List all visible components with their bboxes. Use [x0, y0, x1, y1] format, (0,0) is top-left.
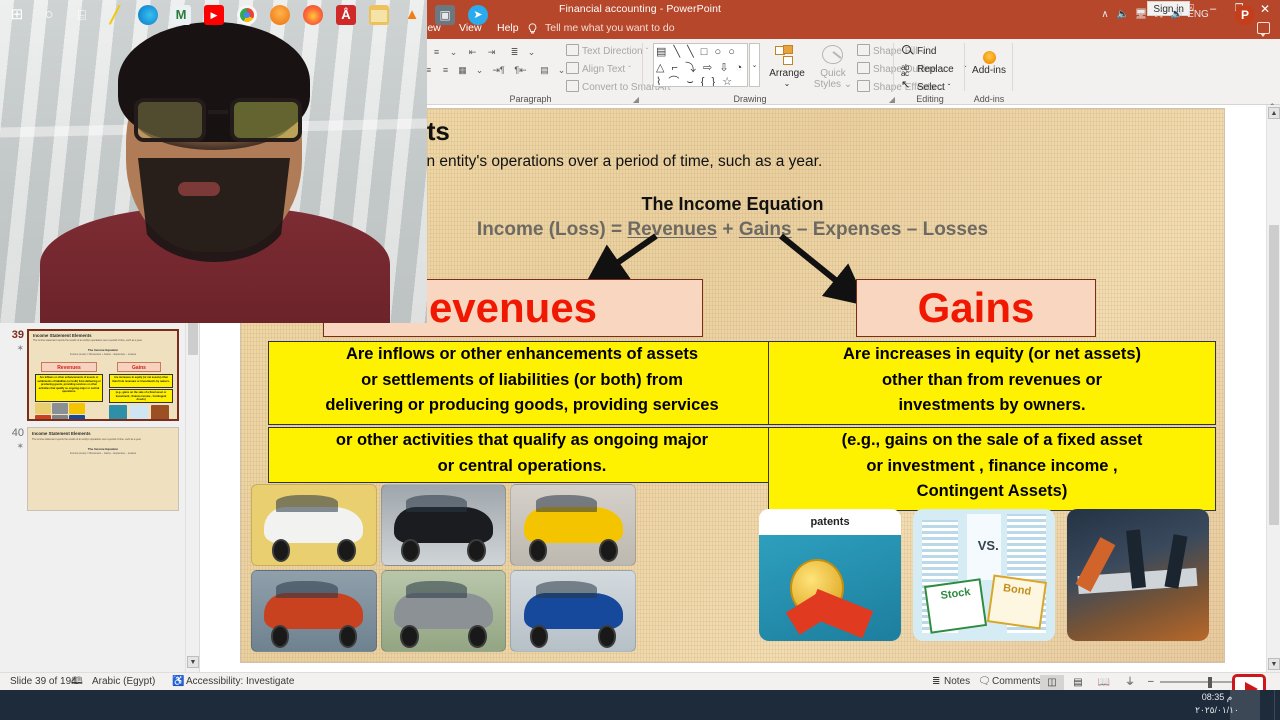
- mozilla-firefox-icon[interactable]: [303, 5, 323, 25]
- start-button[interactable]: ⊞: [7, 5, 27, 25]
- camera-icon[interactable]: ⛶: [1152, 8, 1166, 22]
- screen-recorder-icon[interactable]: ▣: [435, 5, 455, 25]
- file-explorer-icon[interactable]: [369, 5, 389, 25]
- quick-styles-button[interactable]: Quick Styles ⌄: [811, 45, 855, 90]
- arrange-button[interactable]: Arrange ⌄: [765, 45, 809, 88]
- network-icon[interactable]: 🖥: [1134, 8, 1148, 22]
- replace-icon: [901, 62, 914, 74]
- glasses-bridge: [208, 110, 228, 114]
- add-ins-button[interactable]: Add-ins: [965, 51, 1013, 76]
- ribbon-group-addins: Add-ins Add-ins: [965, 39, 1013, 105]
- thumb-gains-images: [109, 405, 169, 421]
- align-text-left-button[interactable]: ▤: [536, 63, 553, 78]
- line-spacing-button[interactable]: ≣: [506, 45, 523, 60]
- equation-suffix: – Expenses – Losses: [792, 219, 988, 240]
- close-icon[interactable]: ✕: [1252, 0, 1278, 18]
- thumb-number-39: 39: [6, 329, 24, 341]
- equation-prefix: Income (Loss) =: [477, 219, 627, 240]
- microsoft-edge-icon[interactable]: [138, 5, 158, 25]
- status-bar: Slide 39 of 194 🕮 Arabic (Egypt) ♿ Acces…: [0, 672, 1280, 690]
- chevron-down-icon[interactable]: ▼: [187, 656, 199, 668]
- clock-date: ٢٠٢٥/٠١/١٠: [1188, 704, 1246, 717]
- gains-header: Gains: [856, 279, 1096, 337]
- comments-icon[interactable]: 🗨: [978, 673, 991, 691]
- normal-view-icon[interactable]: ◫: [1040, 675, 1064, 690]
- group-label-drawing: Drawing: [645, 94, 855, 104]
- silver-mercedes-suv-image: [381, 570, 507, 652]
- zoom-slider-thumb[interactable]: [1208, 677, 1212, 688]
- increase-indent-button[interactable]: ⇥: [483, 45, 500, 60]
- search-icon[interactable]: ○: [39, 5, 59, 25]
- add-ins-icon: [983, 51, 996, 64]
- search-icon: [901, 44, 914, 56]
- text-direction-button[interactable]: Text Directionˇ: [566, 44, 648, 59]
- revenues-line-1: Are inflows or other enhancements of ass…: [269, 342, 775, 368]
- gmail-icon[interactable]: M: [171, 5, 191, 25]
- tell-me-search[interactable]: Tell me what you want to do: [545, 18, 675, 39]
- revenues-line-3: delivering or producing goods, providing…: [269, 393, 775, 419]
- revenues-line-4: or other activities that qualify as ongo…: [269, 428, 775, 454]
- gains-line-1: Are increases in equity (or net assets): [769, 342, 1215, 368]
- rtl-text-direction-button[interactable]: ¶⇤: [512, 63, 529, 78]
- tab-help[interactable]: Help: [490, 18, 526, 39]
- language-indicator[interactable]: ENG: [1186, 8, 1210, 22]
- columns-caret[interactable]: ⌄: [471, 63, 488, 78]
- gains-line-3: investments by owners.: [769, 393, 1215, 419]
- accessibility-status[interactable]: Accessibility: Investigate: [186, 673, 294, 691]
- language-indicator[interactable]: Arabic (Egypt): [92, 673, 155, 691]
- telegram-icon[interactable]: ➤: [468, 5, 488, 25]
- slide-scroll-thumb[interactable]: [1269, 225, 1279, 525]
- white-mercedes-sedan-image: [251, 484, 377, 566]
- shapes-row-1: ▤ ╲ ╲ □ ○ ○: [656, 45, 748, 58]
- ribbon-group-drawing: ▤ ╲ ╲ □ ○ ○ △ ⌐ ⤵ ⇨ ⇩ ◔ ⌇ ⌒ ⌣ { } ☆ ⌄ Ar…: [645, 39, 890, 105]
- arrange-icon: [775, 45, 799, 67]
- zoom-slider[interactable]: [1160, 681, 1232, 683]
- arrow-to-revenues: [604, 236, 656, 272]
- notes-button[interactable]: Notes: [944, 673, 970, 691]
- add-ins-label: Add-ins: [972, 65, 1006, 76]
- shape-effects-icon: [857, 80, 870, 92]
- replace-button[interactable]: Replaceˇ: [901, 62, 966, 77]
- person-mouth: [178, 182, 220, 196]
- quick-styles-label: Quick: [820, 68, 846, 79]
- quick-styles-icon: [820, 45, 846, 67]
- slide-scrollbar[interactable]: ▲ ▼: [1266, 105, 1280, 672]
- arrange-label: Arrange: [769, 68, 805, 79]
- windows-taskbar: [0, 690, 1280, 720]
- vs-caption: VS.: [970, 538, 1007, 553]
- slide-thumbnail-40[interactable]: Income Statement Elements The income sta…: [27, 427, 179, 511]
- notes-icon[interactable]: ≣: [932, 673, 940, 691]
- microphone-icon[interactable]: 🔈: [1116, 8, 1130, 22]
- black-mercedes-sedan-image: [381, 484, 507, 566]
- adobe-acrobat-icon[interactable]: Å: [336, 5, 356, 25]
- revenues-definition-box: Are inflows or other enhancements of ass…: [268, 341, 776, 425]
- yellow-mercedes-coupe-image: [510, 484, 636, 566]
- paragraph-dialog-launcher[interactable]: ◢: [633, 95, 639, 104]
- shape-outline-icon: [857, 62, 870, 74]
- group-separator: [642, 43, 643, 91]
- scroll-down-icon[interactable]: ▼: [1268, 658, 1280, 670]
- thumb-star-39: ✶: [6, 343, 24, 354]
- show-desktop-button[interactable]: [1274, 690, 1280, 720]
- patents-caption: patents: [759, 509, 901, 535]
- gains-line-6: Contingent Assets): [769, 479, 1215, 505]
- line-spacing-caret[interactable]: ⌄: [523, 45, 540, 60]
- taskbar-clock[interactable]: 08:35 م ٢٠٢٥/٠١/١٠: [1188, 691, 1246, 719]
- slideshow-icon[interactable]: ⏚: [1118, 675, 1142, 690]
- align-center-button[interactable]: ≡: [437, 63, 454, 78]
- slide-thumbnail-39[interactable]: Income Statement Elements The income sta…: [27, 329, 179, 421]
- revenues-line-5: or central operations.: [269, 454, 775, 480]
- shapes-gallery[interactable]: ▤ ╲ ╲ □ ○ ○ △ ⌐ ⤵ ⇨ ⇩ ◔ ⌇ ⌒ ⌣ { } ☆: [653, 43, 748, 87]
- find-button[interactable]: Find: [901, 44, 936, 59]
- comments-button[interactable]: Comments: [992, 673, 1040, 691]
- decrease-indent-button[interactable]: ⇤: [464, 45, 481, 60]
- revenues-car-images: [251, 484, 636, 652]
- patents-medal-image: patents: [759, 509, 901, 641]
- slide-sorter-icon[interactable]: ▤: [1066, 675, 1090, 690]
- gains-examples-box: (e.g., gains on the sale of a fixed asse…: [768, 427, 1216, 511]
- group-label-paragraph: Paragraph: [418, 94, 643, 104]
- revenues-line-2: or settlements of liabilities (or both) …: [269, 368, 775, 394]
- person-beard: [138, 158, 290, 262]
- glasses-lens-left: [134, 98, 206, 142]
- group-label-editing: Editing: [895, 94, 965, 104]
- reading-view-icon[interactable]: 📖: [1092, 675, 1116, 690]
- thumb-car-row-2: [35, 415, 85, 421]
- eyeglasses: [132, 98, 304, 148]
- equation-term-gains: Gains: [739, 219, 792, 240]
- select-button[interactable]: Selectˇ: [901, 80, 950, 95]
- convert-smartart-icon: [566, 80, 579, 92]
- thumb-car-row-1: [35, 403, 85, 414]
- red-mercedes-amg-image: [251, 570, 377, 652]
- clock-time: 08:35 م: [1188, 691, 1246, 704]
- ribbon-group-paragraph: ≡ ⌄ ⇤ ⇥ ≣ ⌄ ≡ ≡ ▦ ⌄ ⇥¶ ¶⇤ ▤ ⌄ Text Direc…: [418, 39, 643, 105]
- gains-line-2: other than from revenues or: [769, 368, 1215, 394]
- show-hidden-icons-chevron[interactable]: ∧: [1098, 8, 1112, 22]
- spellcheck-icon[interactable]: 🕮: [71, 673, 83, 691]
- ltr-text-direction-button[interactable]: ⇥¶: [490, 63, 507, 78]
- blue-mercedes-suv-image: [510, 570, 636, 652]
- numbered-list-button[interactable]: ≡: [428, 45, 445, 60]
- comments-icon[interactable]: [1257, 22, 1270, 34]
- youtube-icon[interactable]: ▶: [204, 5, 224, 25]
- shapes-row-3: ⌇ ⌒ ⌣ { } ☆: [656, 73, 748, 87]
- align-text-icon: [566, 62, 579, 74]
- internet-download-manager-icon[interactable]: ╱: [105, 5, 125, 25]
- accessibility-icon[interactable]: ♿: [172, 673, 184, 691]
- internet-download-manager-orange-icon[interactable]: [270, 5, 290, 25]
- group-label-addins: Add-ins: [965, 94, 1013, 104]
- ribbon-group-editing: Find Replaceˇ Selectˇ Editing: [895, 39, 965, 105]
- stock-vs-bond-image: VS. Stock Bond: [913, 509, 1055, 641]
- equation-term-revenues: Revenues: [627, 219, 717, 240]
- revenues-definition-box-2: or other activities that qualify as ongo…: [268, 427, 776, 483]
- text-direction-icon: [566, 44, 579, 56]
- thumb-star-40: ✶: [6, 441, 24, 452]
- google-chrome-icon[interactable]: [237, 5, 257, 25]
- slide-counter[interactable]: Slide 39 of 194: [10, 673, 77, 691]
- lightbulb-icon: [527, 23, 538, 35]
- glasses-lens-right: [230, 98, 302, 142]
- thumb-number-40: 40: [6, 427, 24, 439]
- gains-line-5: or investment , finance income ,: [769, 454, 1215, 480]
- volume-icon[interactable]: 🔊: [1170, 8, 1184, 22]
- scroll-up-icon[interactable]: ▲: [1268, 107, 1280, 119]
- numbered-list-caret[interactable]: ⌄: [445, 45, 462, 60]
- select-cursor-icon: [901, 80, 914, 92]
- shape-fill-icon: [857, 44, 870, 56]
- align-text-button[interactable]: Align Textˇ: [566, 62, 631, 77]
- powerpoint-icon[interactable]: P: [1235, 5, 1255, 25]
- arrow-to-gains: [781, 236, 849, 291]
- shapes-more-button[interactable]: ⌄: [749, 43, 760, 87]
- equation-join: +: [717, 219, 739, 240]
- gains-line-4: (e.g., gains on the sale of a fixed asse…: [769, 428, 1215, 454]
- gains-definition-box: Are increases in equity (or net assets) …: [768, 341, 1216, 425]
- factory-robots-image: [1067, 509, 1209, 641]
- webcam-video-overlay[interactable]: [0, 0, 427, 323]
- gains-images: patents VS. Stock: [759, 509, 1209, 641]
- task-view-icon[interactable]: ⌸: [72, 5, 92, 25]
- columns-button[interactable]: ▦: [454, 63, 471, 78]
- vlc-media-player-icon[interactable]: ▲: [402, 5, 422, 25]
- zoom-out-button[interactable]: –: [1148, 673, 1154, 691]
